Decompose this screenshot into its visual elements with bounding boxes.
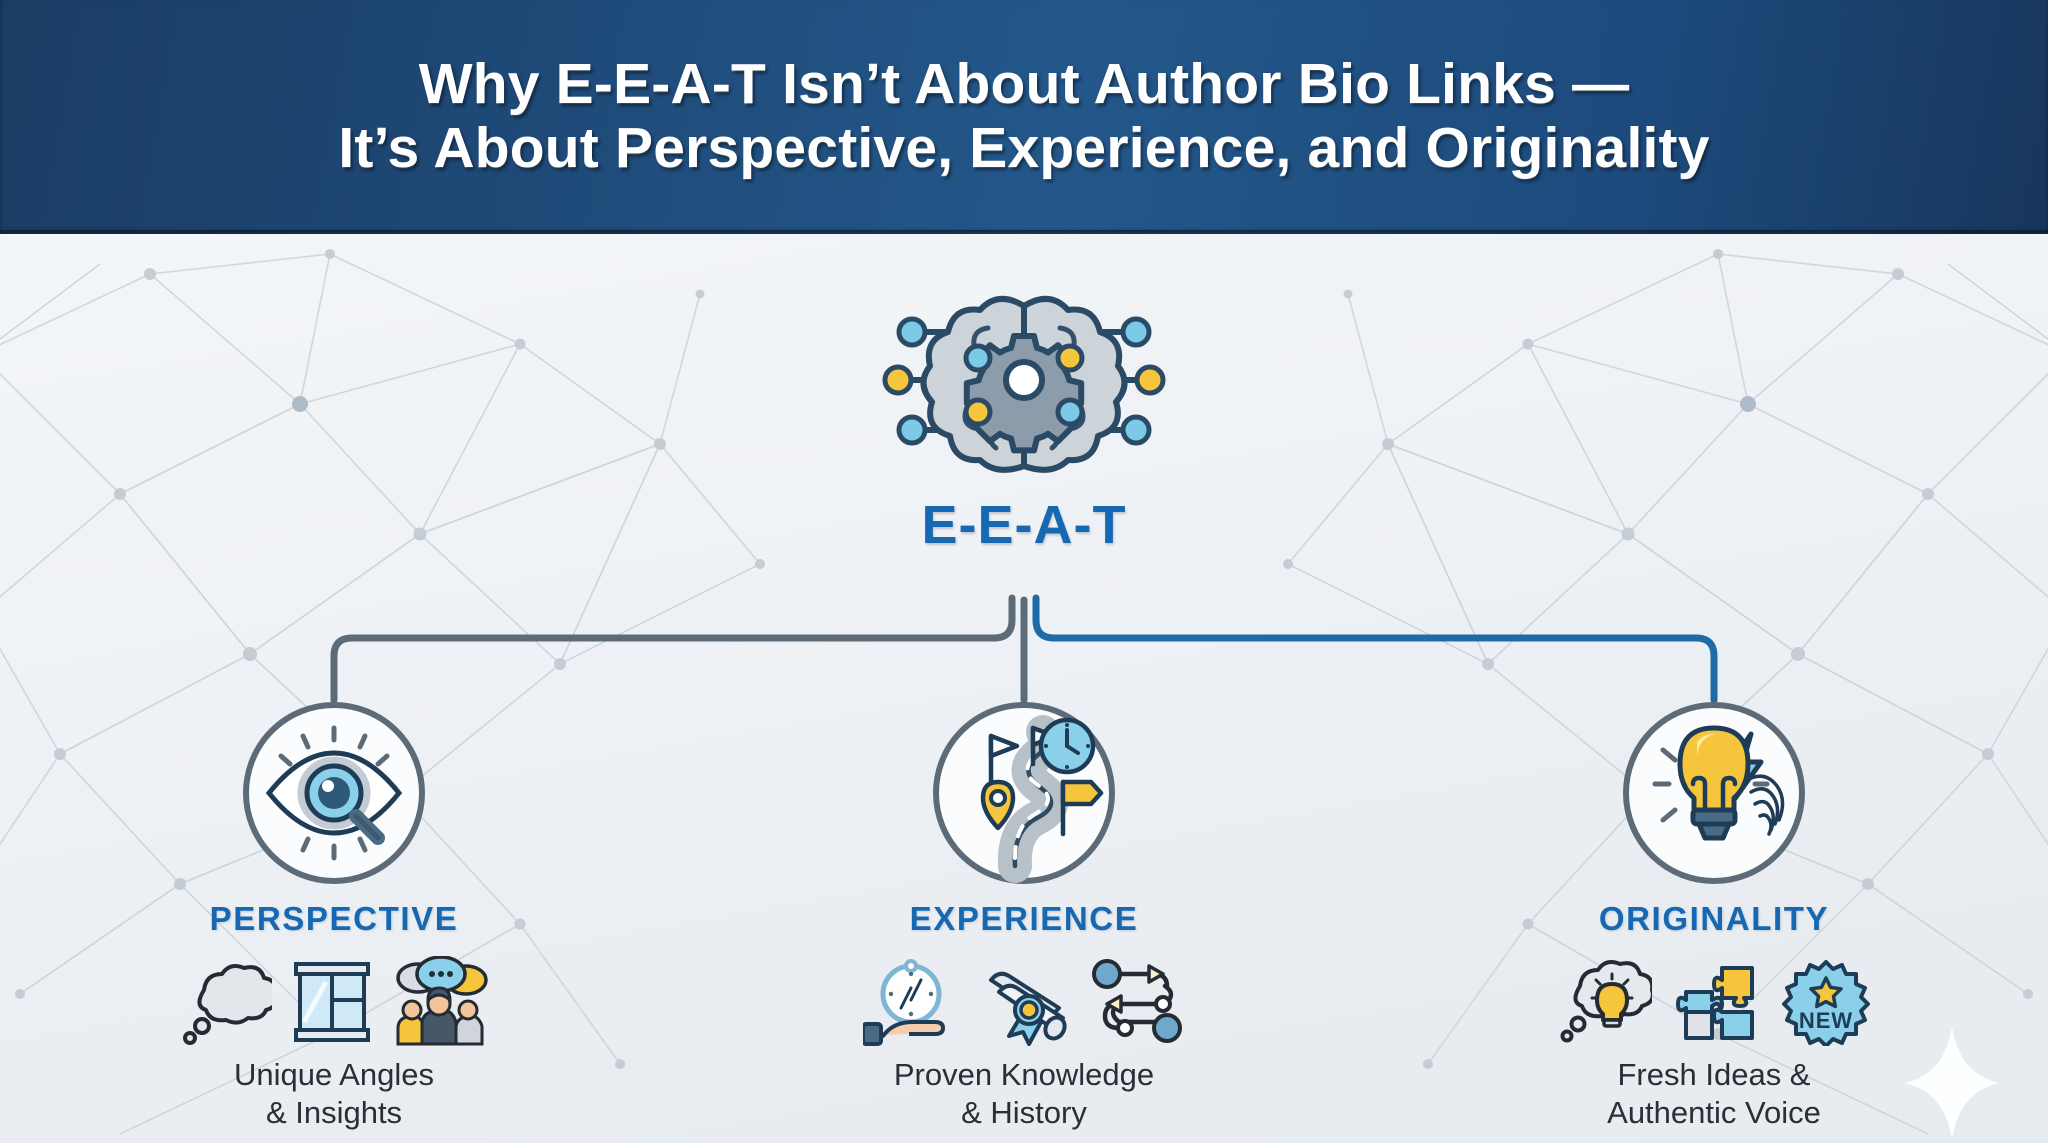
pillar-perspective: PERSPECTIVE [99, 698, 569, 1132]
center-node: E-E-A-T [784, 280, 1264, 580]
header-banner: Why E-E-A-T Isn’t About Author Bio Links… [0, 0, 2048, 234]
page-title-line-1: Why E-E-A-T Isn’t About Author Bio Links… [419, 53, 1630, 117]
infographic-canvas: Why E-E-A-T Isn’t About Author Bio Links… [0, 0, 2048, 1143]
people-speech-bubbles-icon [392, 956, 488, 1046]
pillar-title-experience: EXPERIENCE [910, 900, 1139, 938]
caption-line-1: Unique Angles [234, 1056, 434, 1094]
pillar-originality: ORIGINALITY N [1479, 698, 1949, 1132]
new-badge-icon: NEW [1780, 958, 1872, 1046]
thought-cloud-icon [180, 960, 272, 1046]
caption-originality: Fresh Ideas & Authentic Voice [1607, 1056, 1821, 1132]
pillar-title-originality: ORIGINALITY [1599, 900, 1829, 938]
timeline-flow-icon [1087, 958, 1185, 1046]
pillar-experience: EXPERIENCE [789, 698, 1259, 1132]
caption-line-2: & History [894, 1094, 1154, 1132]
eeat-label: E-E-A-T [922, 494, 1127, 556]
diploma-scroll-icon [977, 958, 1069, 1046]
page-title-line-2: It’s About Perspective, Experience, and … [338, 117, 1709, 181]
brain-network-gear-icon [864, 280, 1184, 480]
caption-line-2: & Insights [234, 1094, 434, 1132]
caption-experience: Proven Knowledge & History [894, 1056, 1154, 1132]
window-icon [290, 960, 374, 1046]
caption-line-2: Authentic Voice [1607, 1094, 1821, 1132]
caption-line-1: Proven Knowledge [894, 1056, 1154, 1094]
winding-road-journey-icon [929, 698, 1119, 888]
caption-perspective: Unique Angles & Insights [234, 1056, 434, 1132]
sub-icons-originality: NEW [1556, 954, 1872, 1046]
lightbulb-fingerprint-icon [1619, 698, 1809, 888]
compass-in-hand-icon [863, 958, 959, 1046]
svg-text:NEW: NEW [1799, 1008, 1853, 1033]
eye-magnifier-icon [239, 698, 429, 888]
pillar-title-perspective: PERSPECTIVE [210, 900, 459, 938]
caption-line-1: Fresh Ideas & [1607, 1056, 1821, 1094]
idea-cloud-bulb-icon [1556, 958, 1652, 1046]
sub-icons-perspective [180, 954, 488, 1046]
sub-icons-experience [863, 954, 1185, 1046]
puzzle-pieces-icon [1670, 958, 1762, 1046]
